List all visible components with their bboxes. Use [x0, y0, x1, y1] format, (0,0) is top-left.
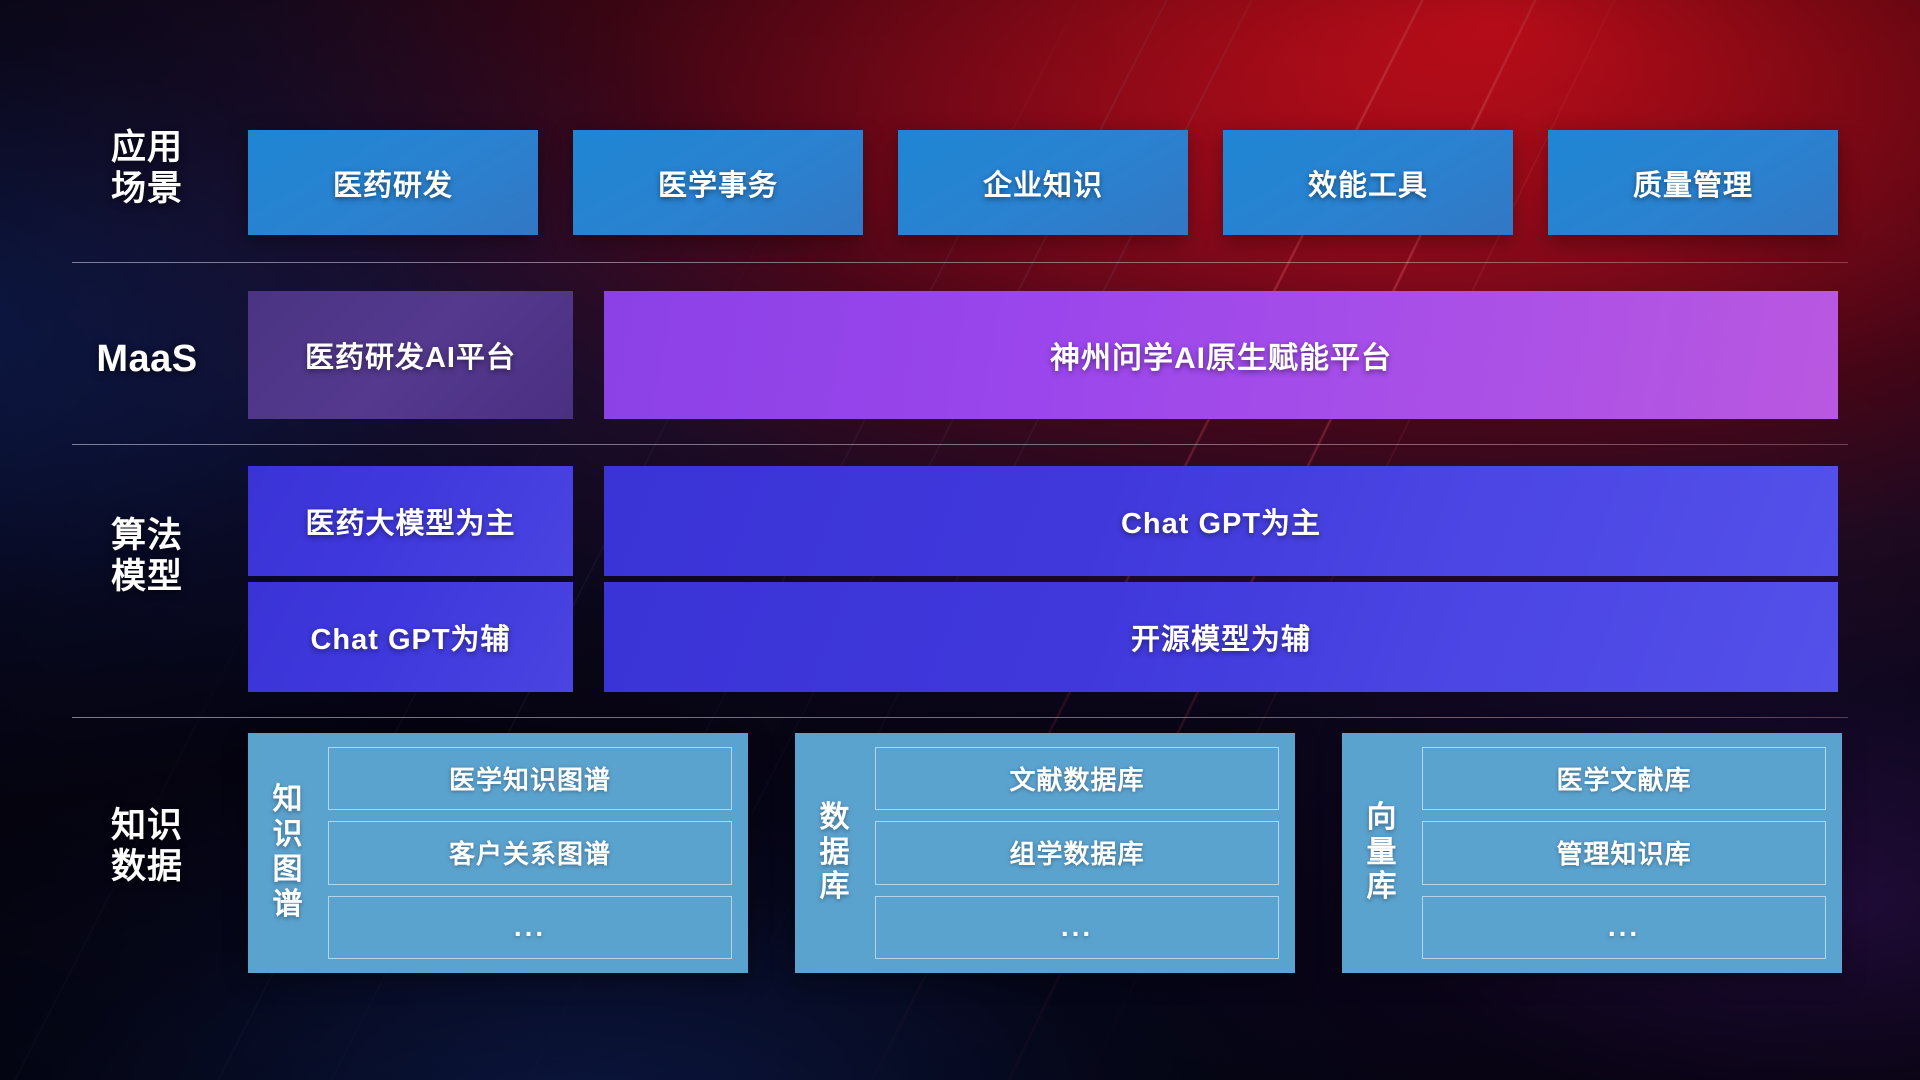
algo-box-primary-right[interactable]: Chat GPT为主	[604, 466, 1838, 576]
knowledge-item-medical-graph[interactable]: 医学知识图谱	[328, 747, 732, 810]
knowledge-panel-database-title-char-2: 据	[820, 836, 851, 871]
row-label-application-line1: 应用	[72, 127, 222, 168]
row-label-algorithm-line2: 模型	[72, 556, 222, 597]
knowledge-panel-vector-title-char-1: 向	[1367, 801, 1398, 836]
knowledge-item-customer-graph[interactable]: 客户关系图谱	[328, 821, 732, 884]
row-label-algorithm-line1: 算法	[72, 515, 222, 556]
row-label-knowledge-line2: 数据	[72, 846, 222, 887]
knowledge-panel-database-items: 文献数据库 组学数据库 ...	[875, 747, 1279, 959]
knowledge-panel-vector-title-char-3: 库	[1367, 870, 1398, 905]
knowledge-panel-vector-title: 向 量 库	[1356, 747, 1408, 959]
knowledge-item-omics-db[interactable]: 组学数据库	[875, 821, 1279, 884]
knowledge-panel-database[interactable]: 数 据 库 文献数据库 组学数据库 ...	[795, 733, 1295, 973]
knowledge-item-medical-literature[interactable]: 医学文献库	[1422, 747, 1826, 810]
app-box-efficiency-tools[interactable]: 效能工具	[1223, 130, 1513, 235]
knowledge-item-management-knowledge[interactable]: 管理知识库	[1422, 821, 1826, 884]
app-box-medical-affairs[interactable]: 医学事务	[573, 130, 863, 235]
knowledge-item-vector-more[interactable]: ...	[1422, 896, 1826, 959]
knowledge-panel-database-title-char-1: 数	[820, 801, 851, 836]
row-label-algorithm: 算法 模型	[72, 515, 222, 598]
knowledge-panel-graph[interactable]: 知 识 图 谱 医学知识图谱 客户关系图谱 ...	[248, 733, 748, 973]
knowledge-panel-graph-title-char-2: 识	[273, 818, 304, 853]
row-label-application: 应用 场景	[72, 127, 222, 210]
maas-box-shenzhou-wenxue-platform[interactable]: 神州问学AI原生赋能平台	[604, 291, 1838, 419]
knowledge-panel-database-title: 数 据 库	[809, 747, 861, 959]
algo-box-primary-left[interactable]: 医药大模型为主	[248, 466, 573, 576]
knowledge-panel-vector[interactable]: 向 量 库 医学文献库 管理知识库 ...	[1342, 733, 1842, 973]
row-label-knowledge: 知识 数据	[72, 805, 222, 888]
row-label-maas: MaaS	[72, 337, 222, 382]
knowledge-panel-vector-items: 医学文献库 管理知识库 ...	[1422, 747, 1826, 959]
knowledge-item-database-more[interactable]: ...	[875, 896, 1279, 959]
app-box-quality-management[interactable]: 质量管理	[1548, 130, 1838, 235]
divider-application-maas	[72, 262, 1848, 263]
row-label-application-line2: 场景	[72, 168, 222, 209]
app-box-enterprise-knowledge[interactable]: 企业知识	[898, 130, 1188, 235]
knowledge-panel-vector-title-char-2: 量	[1367, 836, 1398, 871]
divider-maas-algorithm	[72, 444, 1848, 445]
knowledge-panel-graph-title-char-3: 图	[273, 853, 304, 888]
knowledge-panel-database-title-char-3: 库	[820, 870, 851, 905]
knowledge-panel-graph-title-char-1: 知	[273, 783, 304, 818]
row-label-knowledge-line1: 知识	[72, 805, 222, 846]
knowledge-item-literature-db[interactable]: 文献数据库	[875, 747, 1279, 810]
knowledge-item-graph-more[interactable]: ...	[328, 896, 732, 959]
knowledge-panel-graph-items: 医学知识图谱 客户关系图谱 ...	[328, 747, 732, 959]
knowledge-panel-graph-title: 知 识 图 谱	[262, 747, 314, 959]
slide-canvas: 应用 场景 医药研发 医学事务 企业知识 效能工具 质量管理 MaaS 医药研发…	[0, 0, 1920, 1080]
architecture-diagram: 应用 场景 医药研发 医学事务 企业知识 效能工具 质量管理 MaaS 医药研发…	[0, 0, 1920, 1080]
app-box-drug-rd[interactable]: 医药研发	[248, 130, 538, 235]
maas-box-drug-ai-platform[interactable]: 医药研发AI平台	[248, 291, 573, 419]
divider-algorithm-knowledge	[72, 717, 1848, 718]
algo-box-secondary-right[interactable]: 开源模型为辅	[604, 582, 1838, 692]
algo-box-secondary-left[interactable]: Chat GPT为辅	[248, 582, 573, 692]
knowledge-panel-graph-title-char-4: 谱	[273, 888, 304, 923]
